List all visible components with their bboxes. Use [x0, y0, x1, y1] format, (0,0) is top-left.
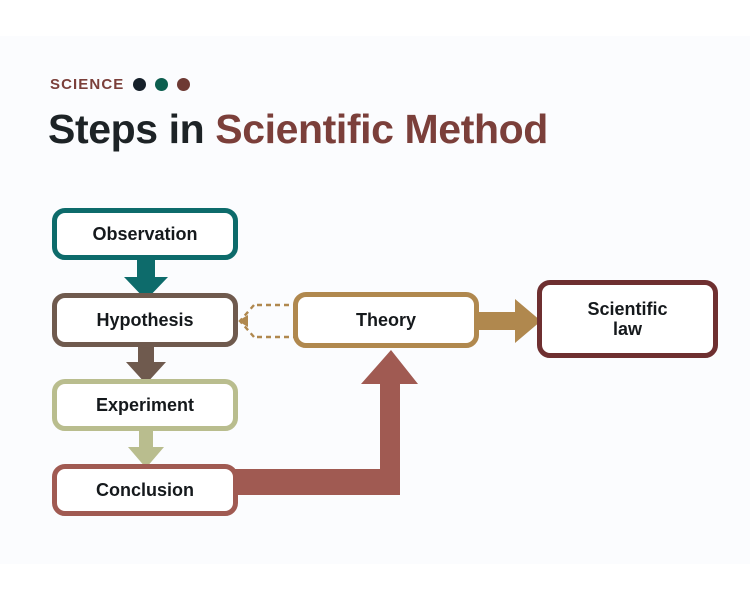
node-theory-label: Theory	[356, 310, 416, 330]
node-hypothesis-label: Hypothesis	[96, 310, 193, 330]
node-observation-label: Observation	[92, 224, 197, 244]
eyebrow-label: SCIENCE	[50, 76, 124, 93]
node-scientific-law-line2: law	[613, 319, 642, 339]
node-scientific-law-label: Scientific law	[587, 299, 667, 339]
page-title: Steps in Scientific Method	[48, 106, 548, 153]
arrow-theory-to-law	[471, 297, 543, 345]
arrow-theory-to-hypothesis-dashed	[236, 288, 300, 354]
node-observation[interactable]: Observation	[52, 208, 238, 260]
node-conclusion[interactable]: Conclusion	[52, 464, 238, 516]
diagram-canvas: SCIENCE Steps in Scientific Method	[0, 0, 750, 600]
dot-brown-icon	[177, 78, 190, 91]
node-hypothesis[interactable]: Hypothesis	[52, 293, 238, 347]
node-scientific-law[interactable]: Scientific law	[537, 280, 718, 358]
node-theory[interactable]: Theory	[293, 292, 479, 348]
node-scientific-law-line1: Scientific	[587, 299, 667, 319]
title-accent: Scientific Method	[215, 106, 548, 152]
arrow-conclusion-to-theory	[228, 350, 418, 510]
dot-teal-icon	[155, 78, 168, 91]
dot-navy-icon	[133, 78, 146, 91]
node-experiment-label: Experiment	[96, 395, 194, 415]
title-plain: Steps in	[48, 106, 215, 152]
eyebrow-row: SCIENCE	[50, 76, 190, 93]
node-conclusion-label: Conclusion	[96, 480, 194, 500]
node-experiment[interactable]: Experiment	[52, 379, 238, 431]
